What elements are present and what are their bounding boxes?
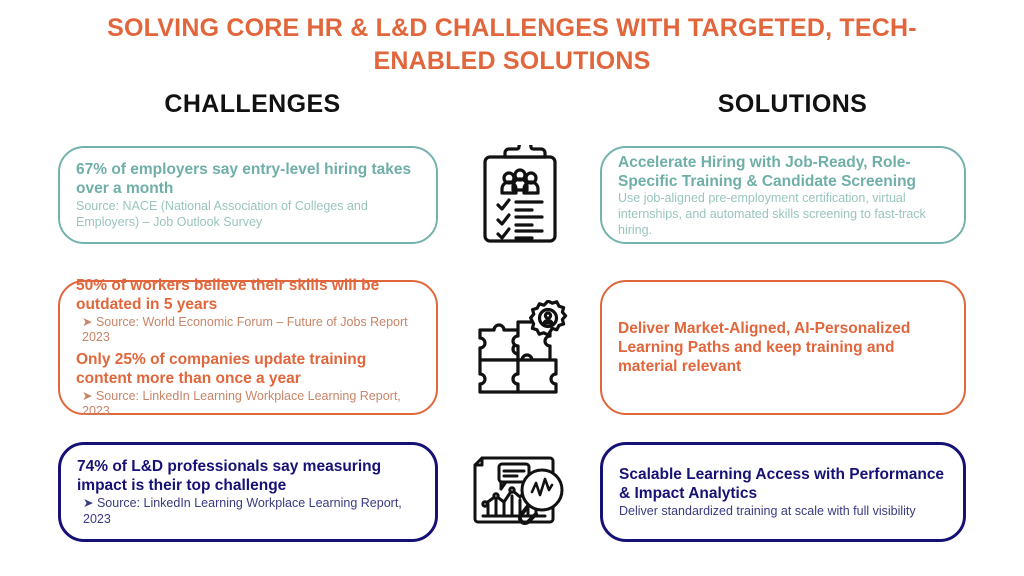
challenge-headline-3: 74% of L&D professionals say measuring i… (77, 458, 419, 496)
row-hiring: 67% of employers say entry-level hiring … (0, 146, 1024, 244)
infographic-slide: SOLVING CORE HR & L&D CHALLENGES WITH TA… (0, 0, 1024, 576)
challenge-card-2[interactable]: 50% of workers believe their skills will… (58, 280, 438, 415)
challenge-source-2a: ➤ Source: World Economic Forum – Future … (76, 315, 420, 346)
challenge-source-1: Source: NACE (National Association of Co… (76, 199, 420, 230)
clipboard-checklist-people-icon (455, 140, 585, 250)
row-analytics: 74% of L&D professionals say measuring i… (0, 442, 1024, 542)
challenge-headline-2a: 50% of workers believe their skills will… (76, 277, 420, 315)
solution-headline-3: Scalable Learning Access with Performanc… (619, 466, 947, 504)
column-header-solutions: SOLUTIONS (600, 90, 985, 119)
solution-card-2[interactable]: Deliver Market-Aligned, AI-Personalized … (600, 280, 966, 415)
challenge-source-2b: ➤ Source: LinkedIn Learning Workplace Le… (76, 389, 420, 420)
solution-detail-1: Use job-aligned pre-employment certifica… (618, 191, 948, 238)
challenge-headline-1: 67% of employers say entry-level hiring … (76, 161, 420, 199)
solution-detail-3: Deliver standardized training at scale w… (619, 504, 947, 520)
challenge-headline-2b: Only 25% of companies update training co… (76, 351, 420, 389)
puzzle-gear-ai-icon (455, 290, 585, 405)
column-header-challenges: CHALLENGES (60, 90, 445, 119)
solution-card-1[interactable]: Accelerate Hiring with Job-Ready, Role-S… (600, 146, 966, 244)
challenge-source-3: ➤ Source: LinkedIn Learning Workplace Le… (77, 496, 419, 527)
page-title: SOLVING CORE HR & L&D CHALLENGES WITH TA… (95, 12, 929, 78)
solution-headline-1: Accelerate Hiring with Job-Ready, Role-S… (618, 154, 948, 192)
row-skills: 50% of workers believe their skills will… (0, 280, 1024, 415)
challenge-card-1[interactable]: 67% of employers say entry-level hiring … (58, 146, 438, 244)
challenge-card-3[interactable]: 74% of L&D professionals say measuring i… (58, 442, 438, 542)
solution-headline-2: Deliver Market-Aligned, AI-Personalized … (618, 320, 948, 377)
solution-card-3[interactable]: Scalable Learning Access with Performanc… (600, 442, 966, 542)
chart-document-magnifier-icon (455, 442, 585, 542)
